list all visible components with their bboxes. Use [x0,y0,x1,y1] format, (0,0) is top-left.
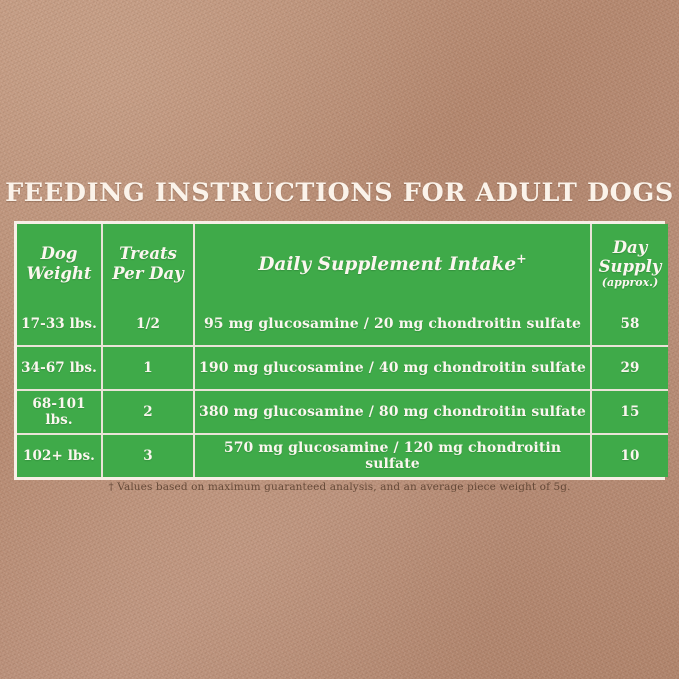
cell-treats-per-day: 3 [102,434,194,477]
column-header-daily-supplement-intake: Daily Supplement Intake+ [194,224,591,303]
footnote-marker-icon: + [516,251,527,266]
dog-weight-line-2: Weight [26,264,91,283]
feeding-instructions-table: Dog Weight Treats Per Day Daily Suppleme… [17,224,668,477]
daily-supplement-intake-label: Daily Supplement Intake [258,254,516,275]
cell-dog-weight: 68-101 lbs. [17,390,102,434]
cell-treats-per-day: 1 [102,346,194,390]
column-header-dog-weight: Dog Weight [17,224,102,303]
day-supply-line-2: Supply [599,257,662,276]
cell-daily-supplement-intake: 380 mg glucosamine / 80 mg chondroitin s… [194,390,591,434]
day-supply-line-1: Day [613,238,648,257]
table-body: 17-33 lbs. 1/2 95 mg glucosamine / 20 mg… [17,303,668,477]
cell-treats-per-day: 2 [102,390,194,434]
cell-daily-supplement-intake: 190 mg glucosamine / 40 mg chondroitin s… [194,346,591,390]
table-row: 68-101 lbs. 2 380 mg glucosamine / 80 mg… [17,390,668,434]
cell-treats-per-day: 1/2 [102,303,194,346]
treats-per-day-line-2: Per Day [112,264,184,283]
cell-daily-supplement-intake: 570 mg glucosamine / 120 mg chondroitin … [194,434,591,477]
column-header-treats-per-day: Treats Per Day [102,224,194,303]
day-supply-approx-note: (approx.) [592,277,668,290]
table-row: 102+ lbs. 3 570 mg glucosamine / 120 mg … [17,434,668,477]
page-title: FEEDING INSTRUCTIONS FOR ADULT DOGS [0,178,679,208]
column-header-day-supply: Day Supply (approx.) [591,224,668,303]
feeding-instructions-table-wrapper: Dog Weight Treats Per Day Daily Suppleme… [14,221,665,480]
cell-daily-supplement-intake: 95 mg glucosamine / 20 mg chondroitin su… [194,303,591,346]
table-row: 17-33 lbs. 1/2 95 mg glucosamine / 20 mg… [17,303,668,346]
treats-per-day-line-1: Treats [119,244,177,263]
label-content: FEEDING INSTRUCTIONS FOR ADULT DOGS Dog … [0,0,679,679]
footnote-text: † Values based on maximum guaranteed ana… [0,481,679,493]
cell-dog-weight: 102+ lbs. [17,434,102,477]
cell-dog-weight: 17-33 lbs. [17,303,102,346]
table-header: Dog Weight Treats Per Day Daily Suppleme… [17,224,668,303]
cell-day-supply: 15 [591,390,668,434]
cell-dog-weight: 34-67 lbs. [17,346,102,390]
cell-day-supply: 10 [591,434,668,477]
table-row: 34-67 lbs. 1 190 mg glucosamine / 40 mg … [17,346,668,390]
table-header-row: Dog Weight Treats Per Day Daily Suppleme… [17,224,668,303]
cell-day-supply: 29 [591,346,668,390]
cell-day-supply: 58 [591,303,668,346]
dog-weight-line-1: Dog [41,244,78,263]
